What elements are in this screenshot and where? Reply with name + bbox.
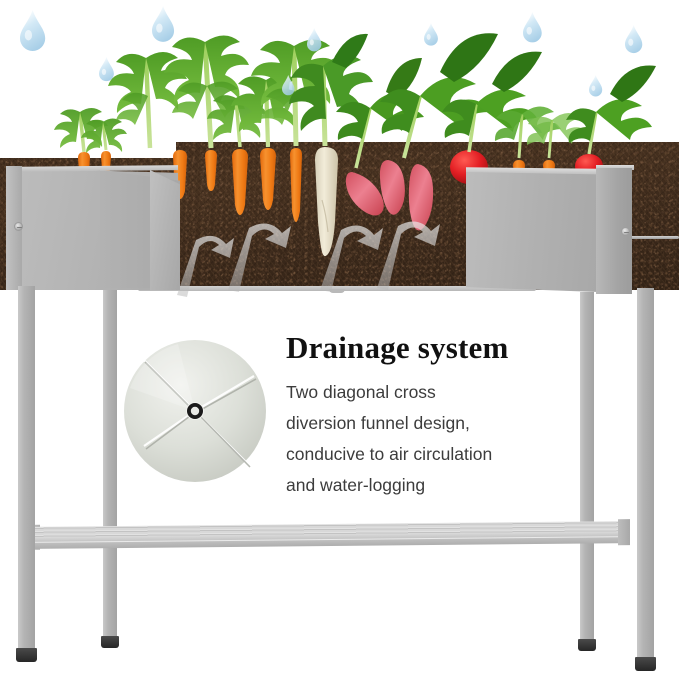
soil-clip-left bbox=[0, 28, 176, 158]
water-droplet bbox=[625, 25, 642, 53]
assembly-screw bbox=[14, 222, 23, 231]
radish-greens bbox=[566, 66, 656, 154]
water-droplet bbox=[424, 23, 438, 46]
drainage-funnel-disc bbox=[120, 336, 270, 486]
description-line: Two diagonal cross bbox=[286, 377, 626, 408]
support-leg bbox=[103, 290, 117, 638]
planter-right-front-panel bbox=[466, 172, 598, 292]
support-leg bbox=[18, 286, 35, 651]
water-droplet bbox=[523, 12, 542, 42]
water-droplet bbox=[307, 28, 321, 51]
water-droplet bbox=[282, 75, 294, 95]
feature-description: Two diagonal cross diversion funnel desi… bbox=[286, 377, 626, 501]
radish-greens bbox=[442, 52, 542, 152]
support-leg bbox=[637, 288, 654, 660]
floor-protector-foot bbox=[578, 639, 596, 651]
leafy-greens bbox=[380, 33, 498, 158]
carrot-greens bbox=[231, 75, 304, 148]
description-line: conducive to air circulation bbox=[286, 439, 626, 470]
product-feature-image: Drainage system Two diagonal cross diver… bbox=[0, 0, 679, 685]
floor-protector-foot bbox=[635, 657, 656, 671]
floor-protector-foot bbox=[101, 636, 119, 648]
page-title: Drainage system bbox=[286, 330, 626, 366]
description-line: diversion funnel design, bbox=[286, 408, 626, 439]
bottom-storage-shelf bbox=[30, 521, 630, 553]
planter-left-corner-bevel bbox=[150, 170, 180, 290]
water-droplet bbox=[589, 75, 602, 96]
side-support-rod bbox=[632, 236, 679, 239]
carrot-greens bbox=[251, 40, 340, 147]
floor-protector-foot bbox=[16, 648, 37, 662]
carrot-greens bbox=[164, 36, 249, 149]
description-line: and water-logging bbox=[286, 470, 626, 501]
assembly-screw bbox=[621, 227, 630, 236]
feature-callout: Drainage system Two diagonal cross diver… bbox=[286, 330, 626, 501]
daikon-greens bbox=[289, 34, 373, 146]
shelf-right-end bbox=[618, 519, 630, 545]
carrot-greens bbox=[207, 94, 267, 148]
